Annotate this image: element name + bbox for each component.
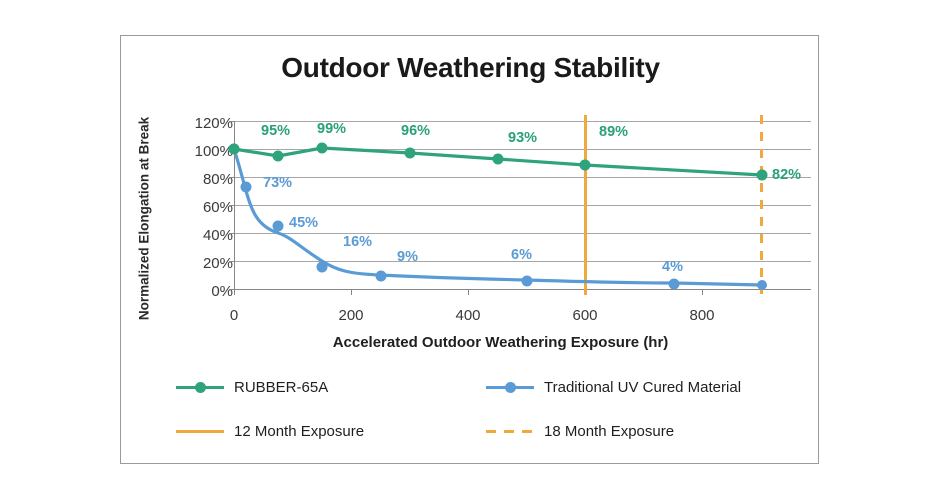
x-axis-title: Accelerated Outdoor Weathering Exposure … [181,334,820,351]
legend-label-18-month: 18 Month Exposure [544,423,674,440]
chart-screenshot: Outdoor Weathering Stability Normalized … [0,0,940,494]
legend-swatch-12-month-icon [176,424,224,438]
plot-svg [121,36,820,336]
chart-frame: Outdoor Weathering Stability Normalized … [120,35,819,464]
data-label-rubber-93: 93% [508,131,537,146]
series-markers-rubber-65a [229,143,768,181]
legend-item-18-month[interactable]: 18 Month Exposure [486,420,674,442]
legend-item-traditional-uv[interactable]: Traditional UV Cured Material [486,376,741,398]
data-label-rubber-89: 89% [599,125,628,140]
chart-legend: RUBBER-65A Traditional UV Cured Material… [176,376,796,448]
legend-swatch-traditional-uv-icon [486,380,534,394]
data-label-rubber-95: 95% [261,124,290,139]
legend-swatch-rubber-65a-icon [176,380,224,394]
data-label-traditional-73: 73% [263,176,292,191]
data-label-rubber-96: 96% [401,124,430,139]
data-label-rubber-99: 99% [317,122,346,137]
data-label-traditional-9: 9% [397,250,418,265]
legend-swatch-18-month-icon [486,424,534,438]
legend-item-12-month[interactable]: 12 Month Exposure [176,420,364,442]
legend-label-traditional-uv: Traditional UV Cured Material [544,379,741,396]
data-label-traditional-6: 6% [511,248,532,263]
plot-area: Normalized Elongation at Break 120% 100%… [121,36,820,465]
legend-label-rubber-65a: RUBBER-65A [234,379,328,396]
legend-label-12-month: 12 Month Exposure [234,423,364,440]
data-label-traditional-16: 16% [343,235,372,250]
data-label-traditional-45: 45% [289,216,318,231]
data-label-rubber-82: 82% [772,168,801,183]
data-label-traditional-4: 4% [662,260,683,275]
legend-item-rubber-65a[interactable]: RUBBER-65A [176,376,328,398]
